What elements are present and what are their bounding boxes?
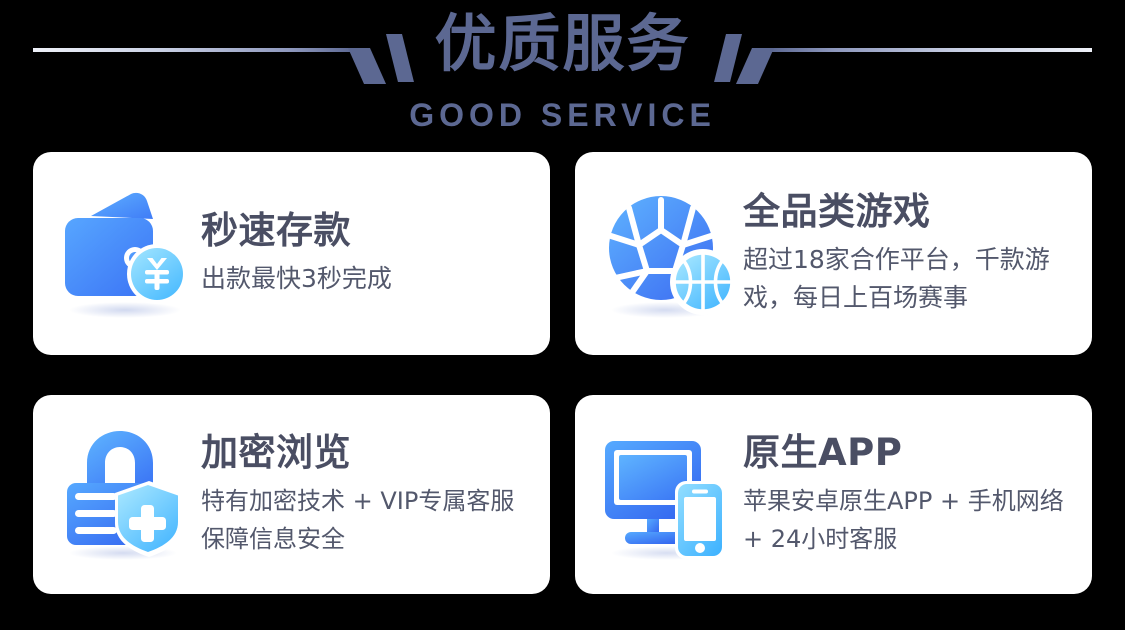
card-text-block: 原生APP 苹果安卓原生APP + 手机网络 + 24小时客服 <box>739 431 1092 558</box>
lock-shield-icon <box>57 427 197 563</box>
card-description: 苹果安卓原生APP + 手机网络 + 24小时客服 <box>743 482 1078 558</box>
page-title: 优质服务 <box>0 8 1125 80</box>
feature-card-grid: 秒速存款 出款最快3秒完成 <box>33 152 1092 594</box>
card-description: 特有加密技术 + VIP专属客服保障信息安全 <box>201 482 536 558</box>
feature-card-native-app[interactable]: 原生APP 苹果安卓原生APP + 手机网络 + 24小时客服 <box>575 395 1092 594</box>
soccer-basketball-icon <box>599 186 739 322</box>
card-title: 原生APP <box>743 431 1078 475</box>
banner-header: 优质服务 GOOD SERVICE <box>0 0 1125 145</box>
wallet-yen-icon <box>57 186 197 322</box>
monitor-phone-icon <box>599 427 739 563</box>
card-title: 全品类游戏 <box>743 190 1078 234</box>
card-description: 出款最快3秒完成 <box>201 260 536 298</box>
feature-card-fast-deposit[interactable]: 秒速存款 出款最快3秒完成 <box>33 152 550 355</box>
card-title: 秒速存款 <box>201 209 536 253</box>
feature-card-all-games[interactable]: 全品类游戏 超过18家合作平台，千款游戏，每日上百场赛事 <box>575 152 1092 355</box>
feature-card-encrypted-browsing[interactable]: 加密浏览 特有加密技术 + VIP专属客服保障信息安全 <box>33 395 550 594</box>
card-title: 加密浏览 <box>201 431 536 475</box>
card-description: 超过18家合作平台，千款游戏，每日上百场赛事 <box>743 241 1078 317</box>
page-subtitle: GOOD SERVICE <box>0 96 1125 134</box>
promo-banner: 优质服务 GOOD SERVICE <box>0 0 1125 630</box>
card-text-block: 加密浏览 特有加密技术 + VIP专属客服保障信息安全 <box>197 431 550 558</box>
card-text-block: 全品类游戏 超过18家合作平台，千款游戏，每日上百场赛事 <box>739 190 1092 317</box>
card-text-block: 秒速存款 出款最快3秒完成 <box>197 209 550 298</box>
